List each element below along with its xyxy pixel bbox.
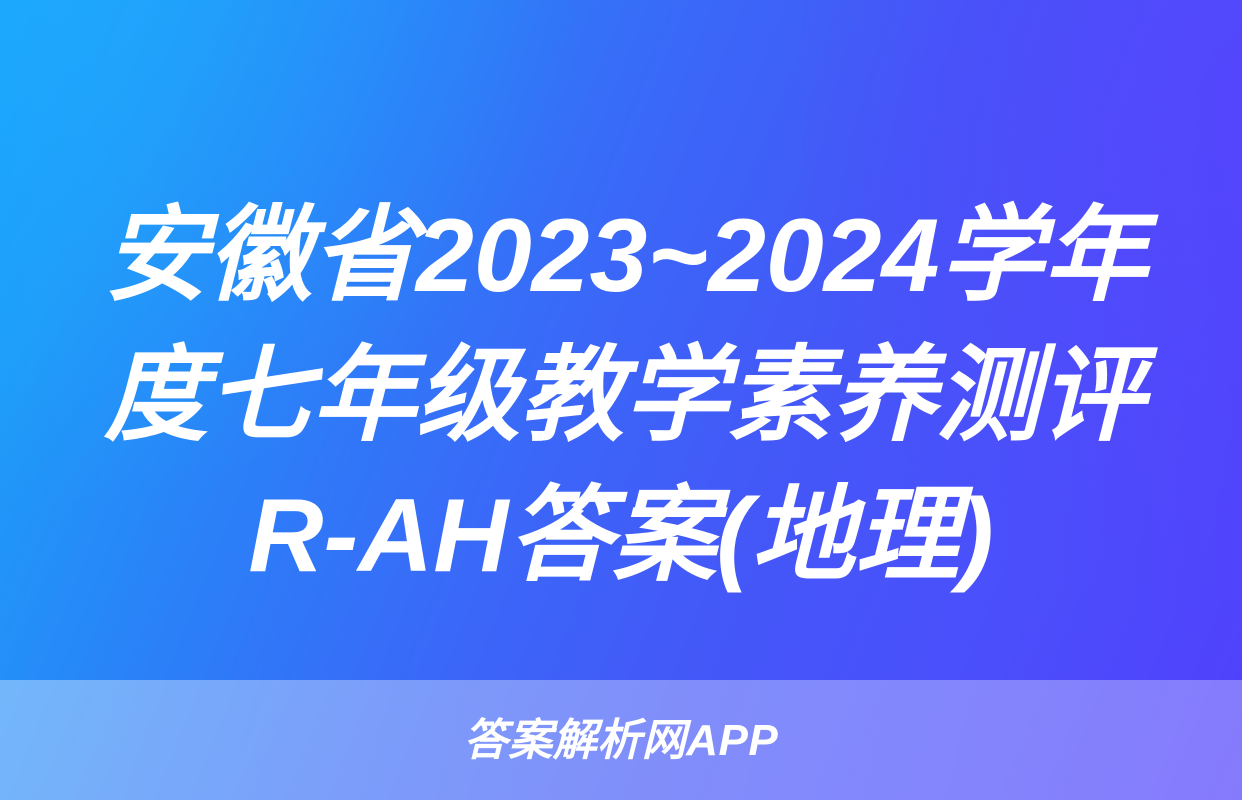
- footer-bar: 答案解析网APP: [0, 680, 1242, 800]
- title-line-1: 安徽省2023~2024学年: [0, 186, 1242, 326]
- poster-banner: 安徽省2023~2024学年 度七年级教学素养测评 R-AH答案(地理) 答案解…: [0, 0, 1242, 800]
- title-line-2: 度七年级教学素养测评: [0, 326, 1242, 466]
- title-line-3: R-AH答案(地理): [0, 466, 1242, 606]
- app-brand-label: 答案解析网APP: [464, 719, 778, 763]
- poster-title: 安徽省2023~2024学年 度七年级教学素养测评 R-AH答案(地理): [0, 186, 1242, 606]
